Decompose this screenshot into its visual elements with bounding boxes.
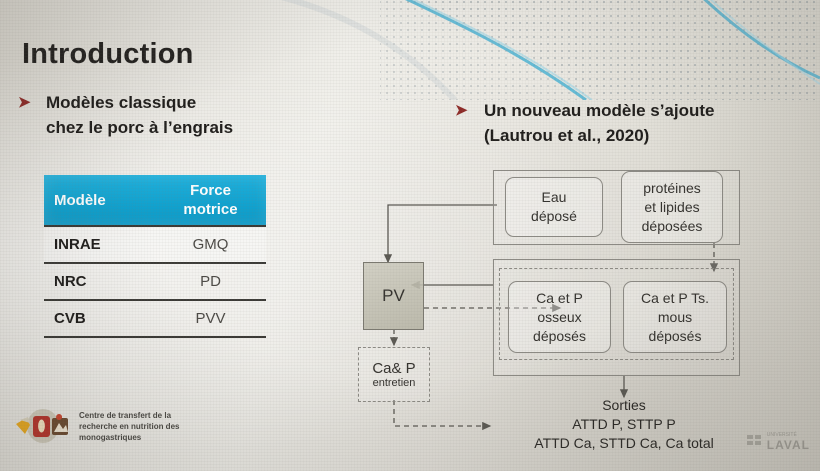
table-header-force-line2: motrice (155, 200, 266, 219)
table-row: NRC PD (44, 262, 266, 299)
arrow-bullet-icon: ➤ (18, 93, 31, 111)
table-row: INRAE GMQ (44, 225, 266, 262)
right-bullet-line2: (Lautrou et al., 2020) (484, 123, 784, 148)
table-cell-model: NRC (44, 273, 155, 290)
node-mous-line3: déposés (649, 327, 702, 346)
ctrnm-text-line2: recherche en nutrition des (79, 421, 179, 432)
node-ca-p-entretien: Ca& P entretien (358, 347, 430, 402)
table-cell-force: PD (155, 273, 266, 290)
node-mous-line1: Ca et P Ts. (641, 289, 709, 308)
left-bullet-line2: chez le porc à l’engrais (46, 115, 306, 140)
right-bullet-line1: Un nouveau modèle s’ajoute (484, 98, 784, 123)
node-pv-label: PV (382, 286, 405, 306)
outputs-line2: ATTD P, STTP P (484, 415, 764, 434)
node-osseux-line2: osseux (537, 308, 581, 327)
table-header-force-line1: Force (155, 181, 266, 200)
node-mous-line2: mous (658, 308, 692, 327)
table-cell-model: CVB (44, 310, 155, 327)
node-ca-p-ts-mous: Ca et P Ts. mous déposés (623, 281, 727, 353)
node-proteines-line2: et lipides (644, 198, 699, 217)
laval-shield-icon (747, 434, 763, 450)
table-header-force-motrice: Force motrice (155, 181, 266, 219)
ctrnm-logo-mark (14, 408, 72, 444)
node-proteines-lipides: protéines et lipides déposées (621, 171, 723, 243)
outputs-line3: ATTD Ca, STTD Ca, Ca total (484, 434, 764, 453)
table-bottom-rule (44, 336, 266, 338)
ctrnm-logo: Centre de transfert de la recherche en n… (14, 408, 179, 444)
node-proteines-line3: déposées (642, 217, 703, 236)
laval-text: LAVAL (767, 438, 810, 452)
node-entretien-line2: entretien (373, 377, 416, 389)
node-ca-p-osseux: Ca et P osseux déposés (508, 281, 611, 353)
ctrnm-text-line3: monogastriques (79, 432, 179, 443)
outputs-line1: Sorties (484, 396, 764, 415)
node-proteines-line1: protéines (643, 179, 701, 198)
table-row: CVB PVV (44, 299, 266, 336)
node-eau-line1: Eau (542, 188, 567, 207)
table-header-modele: Modèle (44, 192, 155, 209)
table-cell-model: INRAE (44, 236, 155, 253)
slide-canvas: Introduction ➤ Modèles classique chez le… (0, 0, 820, 471)
node-pv: PV (363, 262, 424, 330)
page-title: Introduction (22, 38, 194, 71)
models-table: Modèle Force motrice INRAE GMQ NRC PD CV… (44, 175, 266, 338)
universite-laval-logo: UNIVERSITÉ LAVAL (747, 432, 810, 452)
node-entretien-line1: Ca& P (372, 360, 415, 377)
outputs-block: Sorties ATTD P, STTP P ATTD Ca, STTD Ca,… (484, 396, 764, 453)
arrow-bullet-icon-right: ➤ (455, 101, 468, 119)
table-cell-force: GMQ (155, 236, 266, 253)
node-eau-depose: Eau déposé (505, 177, 603, 237)
table-header-row: Modèle Force motrice (44, 175, 266, 225)
table-cell-force: PVV (155, 310, 266, 327)
ctrnm-logo-text: Centre de transfert de la recherche en n… (79, 410, 179, 443)
node-eau-line2: déposé (531, 207, 577, 226)
node-osseux-line1: Ca et P (536, 289, 583, 308)
ctrnm-text-line1: Centre de transfert de la (79, 410, 179, 421)
left-bullet-line1: Modèles classique (46, 90, 286, 115)
node-osseux-line3: déposés (533, 327, 586, 346)
